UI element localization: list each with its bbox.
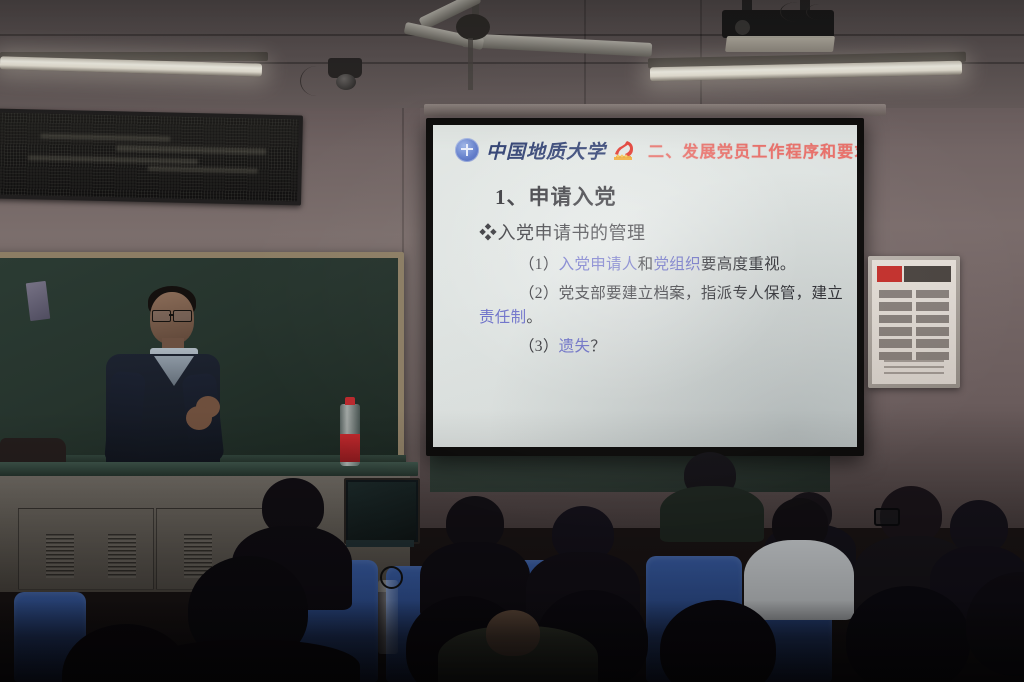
poster-title-highlight [877,266,902,282]
screen-case [424,104,886,116]
monitor-screen [348,482,416,540]
slide-item-3: （3）遗失？ [519,334,857,356]
podium-vent [46,534,74,578]
ceiling-seam-vertical [584,0,586,112]
item-text: 要高度重视。 [701,256,796,273]
lecturer-glasses [152,310,171,322]
item-number: （1） [519,256,559,273]
item-text: 和 [638,256,654,273]
fan-downrod [468,38,473,90]
slide-item-2: （2）党支部要建立档案，指派专人保管，建立 [519,281,857,303]
monitor-stand [346,540,414,547]
projector-ceiling-plate [725,36,835,52]
security-camera-dome [336,74,356,90]
item-text: 入党申请人 [559,256,638,273]
university-name: 中国地质大学 [486,137,606,164]
university-emblem-icon [455,138,479,162]
slide-title: 二、发展党员工作程序和要求 [648,138,857,162]
item-text: ？ [590,338,606,355]
audience-glasses [874,508,900,526]
podium-monitor [344,478,420,544]
water-bottle-podium [340,404,360,466]
poster-title [877,266,951,282]
bottle-carry-loop [380,566,403,589]
lecturer-hand [186,406,212,430]
projection-screen: 中国地质大学 二、发展党员工作程序和要求 1、申请入党 ❖入党申请书的管理 （1… [433,125,857,447]
slide-subheading: ❖入党申请书的管理 [479,219,857,245]
camera-cable [300,66,333,96]
foreground-shadow [0,600,1024,682]
party-emblem-icon [608,137,638,163]
poster-footer-text [884,360,944,376]
fan-motor-hub [456,14,490,40]
projector-lens [735,20,750,35]
item-text: 遗失 [559,338,591,355]
item-number: （3） [519,338,559,355]
classroom-scene: 中国地质大学 二、发展党员工作程序和要求 1、申请入党 ❖入党申请书的管理 （1… [0,0,1024,682]
slide-header: 中国地质大学 二、发展党员工作程序和要求 [433,125,857,175]
lecturer-glasses [173,310,192,322]
podium-vent [108,534,136,578]
poster-sheet [872,260,956,384]
blackboard-right-section [430,452,830,492]
item-text: 责任制 [479,309,526,326]
audience-shoulders [660,486,764,542]
item-text: 党组织 [653,256,700,273]
item-text: 。 [526,309,542,326]
item-text: 党支部要建立档案，指派专人保管，建立 [559,285,843,302]
slide-item-1: （1）入党申请人和党组织要高度重视。 [519,252,857,274]
item-number: （2） [519,285,559,302]
slide-body: 1、申请入党 ❖入党申请书的管理 （1）入党申请人和党组织要高度重视。 （2）党… [433,181,857,356]
slide-heading: 1、申请入党 [495,181,857,211]
glasses-bridge [169,314,174,316]
led-message-board [0,109,303,206]
ceiling-seam-vertical [700,0,702,112]
projector-cable [806,4,833,20]
slide-item-2-continuation: 责任制。 [479,305,857,327]
wall-notice-poster [868,256,960,388]
poster-title-text [904,266,951,282]
